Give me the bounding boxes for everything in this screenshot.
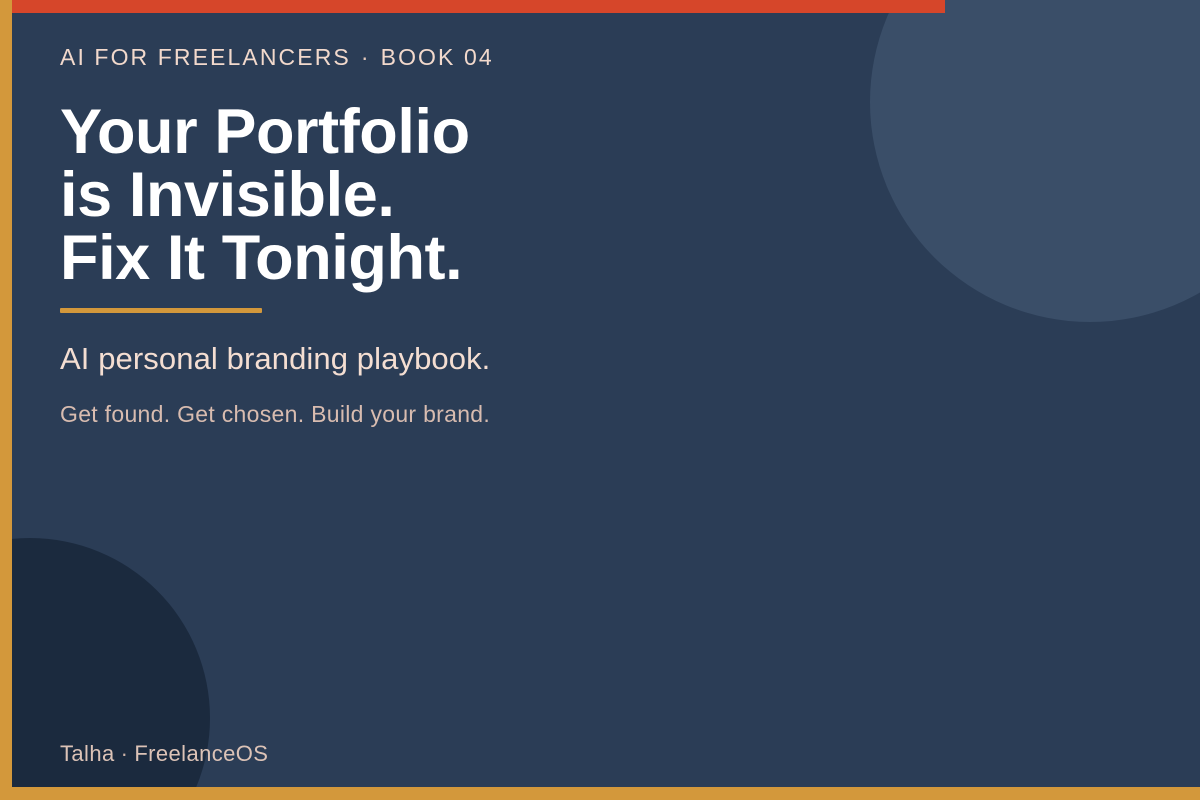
brand-name: FreelanceOS: [134, 741, 268, 766]
page-title: Your Portfolio is Invisible. Fix It Toni…: [60, 101, 470, 290]
series-eyebrow: AI FOR FREELANCERS·BOOK 04: [60, 44, 494, 71]
headline-line-3: Fix It Tonight.: [60, 227, 470, 290]
gold-underline-rule: [60, 308, 262, 313]
subtitle: AI personal branding playbook.: [60, 341, 490, 377]
cover-content: AI FOR FREELANCERS·BOOK 04 Your Portfoli…: [60, 0, 1200, 800]
headline-line-2: is Invisible.: [60, 164, 470, 227]
tagline: Get found. Get chosen. Build your brand.: [60, 401, 490, 428]
author-name: Talha: [60, 741, 115, 766]
bottom-accent-bar: [0, 787, 1200, 800]
left-accent-bar: [0, 0, 12, 800]
headline-line-1: Your Portfolio: [60, 101, 470, 164]
footer-byline: Talha·FreelanceOS: [60, 741, 268, 767]
footer-separator-dot: ·: [115, 741, 135, 766]
top-accent-bar: [12, 0, 945, 13]
eyebrow-separator-dot: ·: [351, 44, 381, 70]
book-cover-slide: AI FOR FREELANCERS·BOOK 04 Your Portfoli…: [0, 0, 1200, 800]
series-label: AI FOR FREELANCERS: [60, 44, 351, 70]
book-number-label: BOOK 04: [381, 44, 494, 70]
